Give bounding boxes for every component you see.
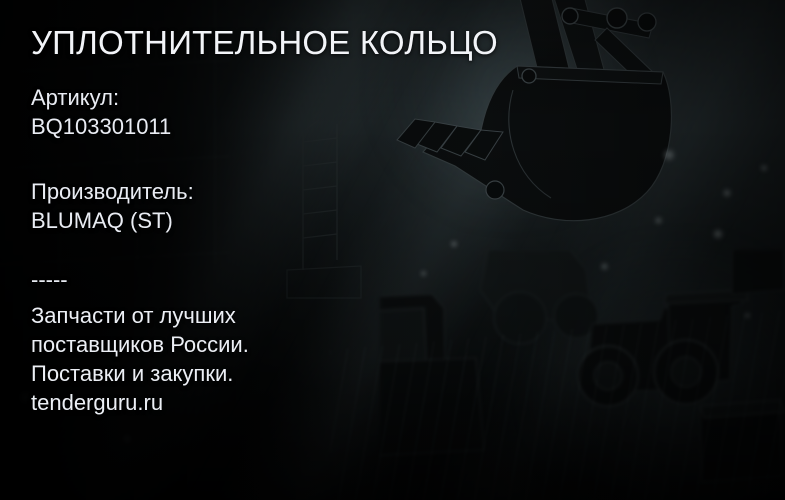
promo-website: tenderguru.ru (31, 388, 249, 417)
manufacturer-label: Производитель: (31, 179, 194, 204)
promo-text: Запчасти от лучших поставщиков России. П… (31, 301, 249, 417)
article-value: BQ103301011 (31, 112, 171, 141)
article-field: Артикул: BQ103301011 (31, 83, 171, 141)
text-content: УПЛОТНИТЕЛЬНОЕ КОЛЬЦО Артикул: BQ1033010… (0, 0, 785, 500)
promo-line-3: Поставки и закупки. (31, 359, 249, 388)
manufacturer-value: BLUMAQ (ST) (31, 206, 194, 235)
product-banner: УПЛОТНИТЕЛЬНОЕ КОЛЬЦО Артикул: BQ1033010… (0, 0, 785, 500)
divider-dashes: ----- (31, 265, 68, 294)
promo-line-2: поставщиков России. (31, 330, 249, 359)
article-label: Артикул: (31, 85, 119, 110)
product-title: УПЛОТНИТЕЛЬНОЕ КОЛЬЦО (31, 24, 498, 62)
promo-line-1: Запчасти от лучших (31, 301, 249, 330)
manufacturer-field: Производитель: BLUMAQ (ST) (31, 177, 194, 235)
